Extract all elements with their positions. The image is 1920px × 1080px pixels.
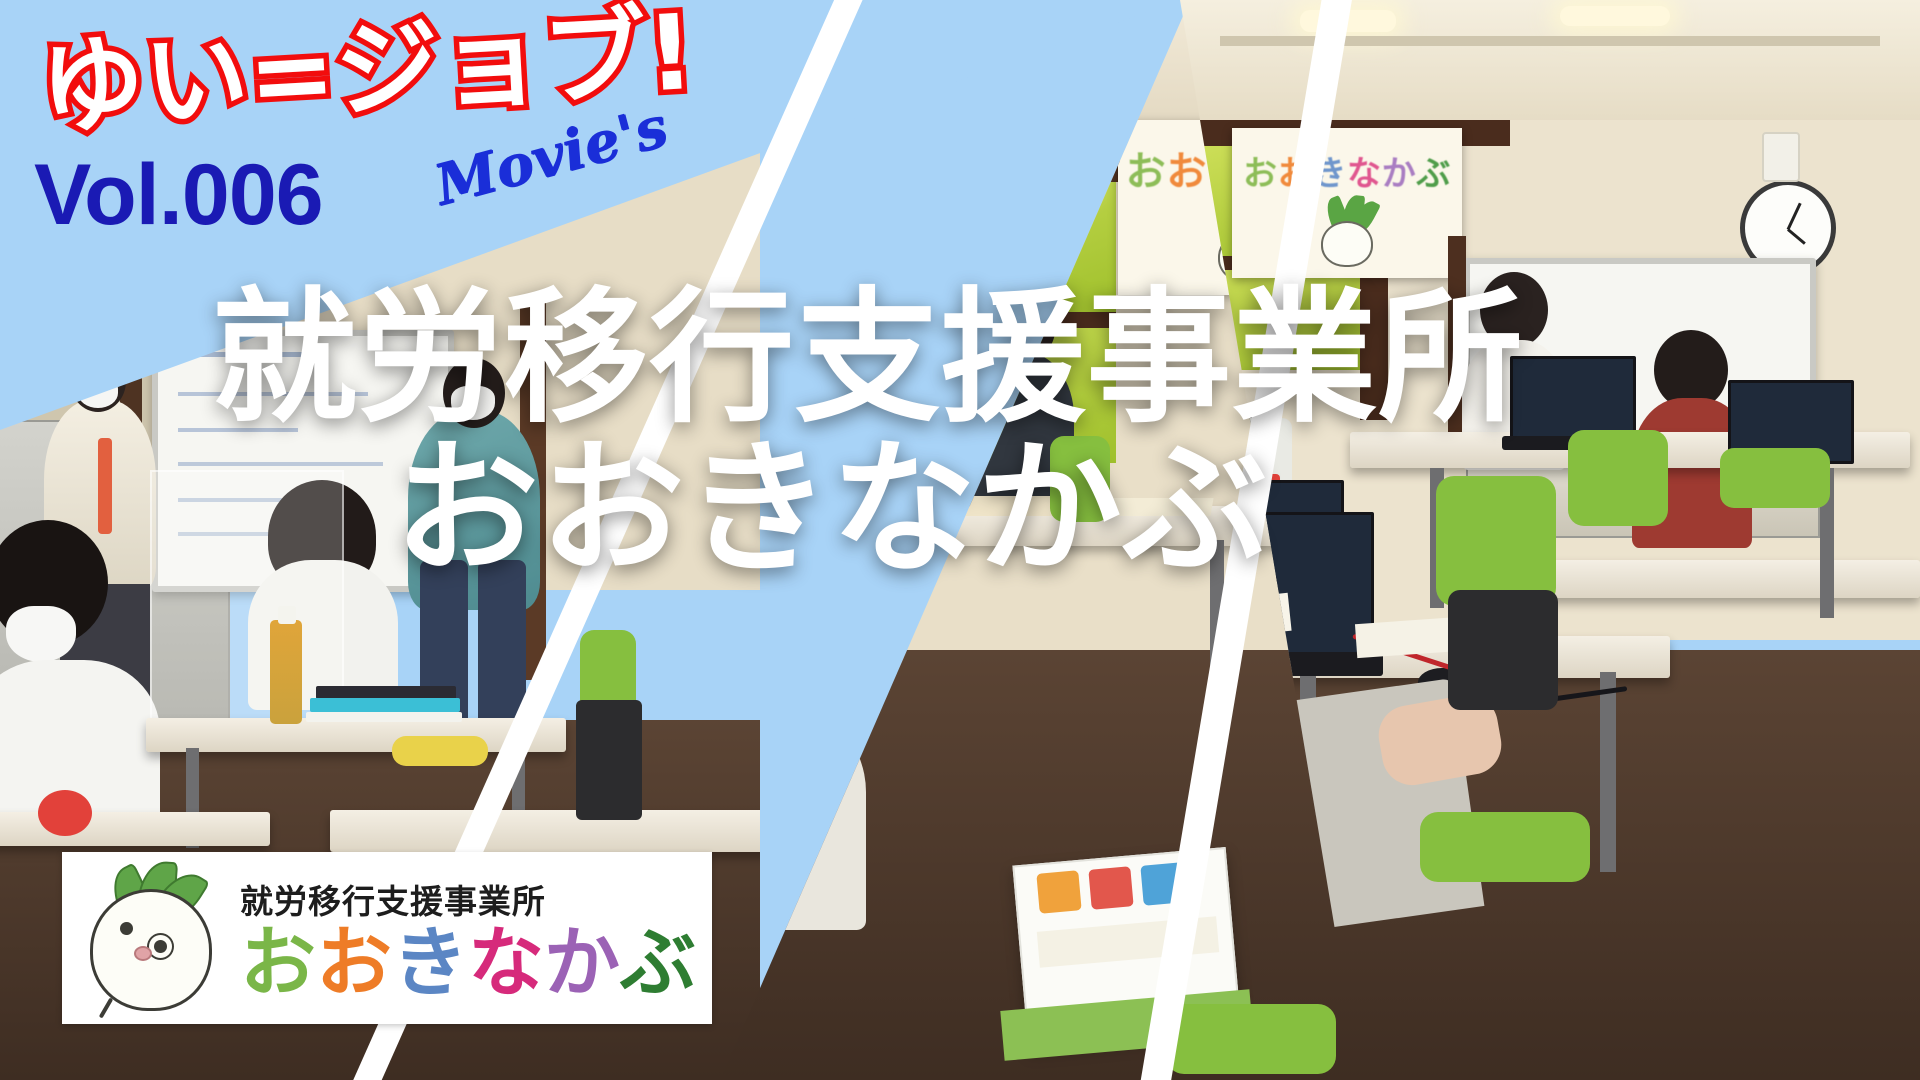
logo-char-0: お <box>240 925 316 1001</box>
turnip-mascot-icon <box>84 863 234 1013</box>
pencil-case <box>392 736 488 766</box>
logo-subtitle: 就労移行支援事業所 <box>240 875 696 923</box>
plastic-bottle <box>270 620 302 724</box>
logo-char-1: お <box>316 925 392 1001</box>
thumbnail-canvas: おおきなかぶ <box>0 0 1920 1080</box>
green-niche <box>826 182 1116 312</box>
logo-card: 就労移行支援事業所 おおきなかぶ <box>62 852 712 1024</box>
logo-char-4: か <box>544 925 620 1001</box>
logo-name: おおきなかぶ <box>240 925 696 1001</box>
volume-label: Vol.006 <box>34 152 323 238</box>
acrylic-partition <box>150 470 344 724</box>
office-chair <box>1436 476 1556 606</box>
logo-char-2: き <box>392 925 468 1001</box>
logo-char-3: な <box>468 925 544 1001</box>
wall-sign-text: おおきなかぶ <box>1243 146 1451 195</box>
wall-sign-ookinakabu: おおきなかぶ <box>1232 128 1462 278</box>
logo-char-5: ぶ <box>620 925 696 1001</box>
